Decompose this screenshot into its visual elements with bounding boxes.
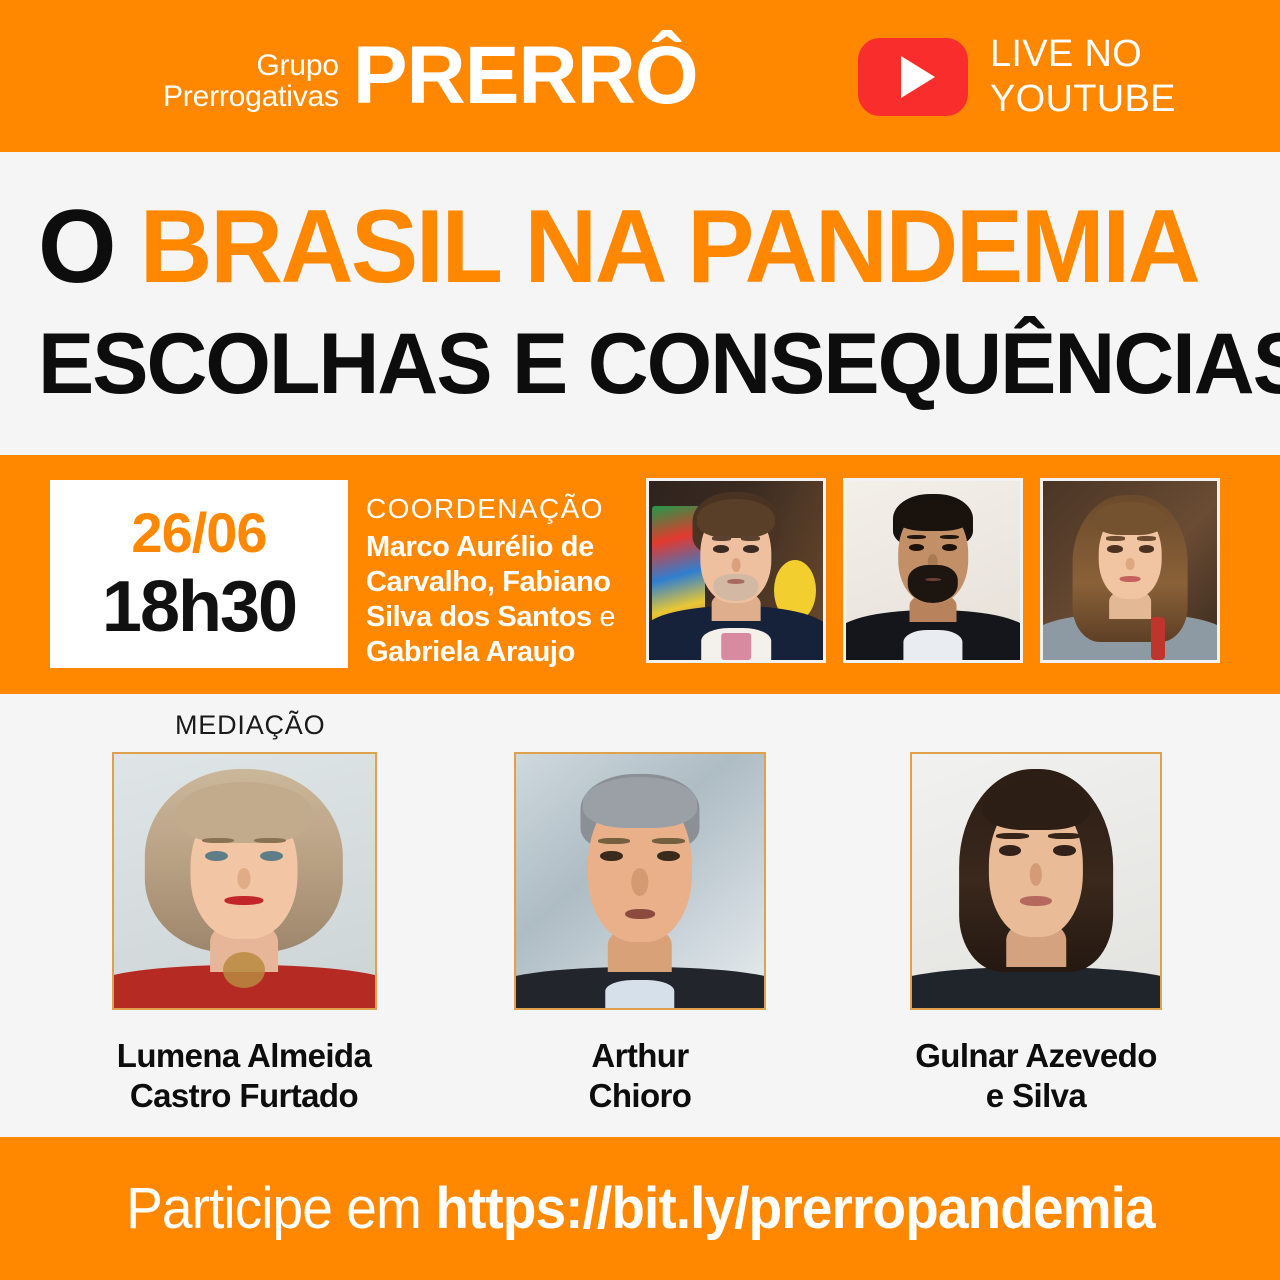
brand-subtitle-line1: Grupo (163, 50, 339, 82)
coordinator-photo-3 (1040, 478, 1220, 663)
speaker-card-1: Lumena Almeida Castro Furtado (112, 752, 377, 1117)
event-time: 18h30 (102, 571, 296, 643)
coordinator-photo-2 (843, 478, 1023, 663)
speakers-row: Lumena Almeida Castro Furtado (0, 752, 1280, 1117)
mediation-label: MEDIAÇÃO (175, 710, 325, 741)
title-line-1: O BRASIL NA PANDEMIA (38, 194, 1243, 300)
coordination-names: Marco Aurélio de Carvalho, Fabiano Silva… (366, 530, 634, 670)
coordination-name-line-1: Marco Aurélio de (366, 530, 634, 565)
coordination-conjunction: e (592, 601, 615, 633)
brand-subtitle-line2: Prerrogativas (163, 81, 339, 113)
brand-wordmark: PRERRÔ (353, 35, 698, 117)
event-date: 26/06 (131, 505, 266, 561)
footer-band: Participe em https://bit.ly/prerropandem… (0, 1137, 1280, 1280)
coordination-name-line-4: Gabriela Araujo (366, 635, 634, 670)
speaker-card-3: Gulnar Azevedo e Silva (904, 752, 1169, 1117)
coordination-text: COORDENAÇÃO Marco Aurélio de Carvalho, F… (366, 495, 634, 670)
coordination-name-line-2: Carvalho, Fabiano (366, 565, 634, 600)
coordinator-photo-1 (646, 478, 826, 663)
brand-logo: Grupo Prerrogativas PRERRÔ (163, 28, 698, 124)
speaker-card-2: Arthur Chioro (508, 752, 773, 1117)
participate-url[interactable]: https://bit.ly/prerropandemia (435, 1176, 1154, 1241)
play-triangle-icon (901, 56, 935, 98)
youtube-label-line2: YOUTUBE (990, 77, 1176, 122)
speaker-photo-arthur (514, 752, 766, 1010)
youtube-play-icon[interactable] (858, 38, 968, 116)
coordination-name-3-bold: Silva dos Santos (366, 601, 592, 633)
title-area: O BRASIL NA PANDEMIA ESCOLHAS E CONSEQUÊ… (0, 152, 1280, 455)
speaker-name-3: Gulnar Azevedo e Silva (915, 1036, 1157, 1117)
participate-lead: Participe em (126, 1176, 435, 1241)
coordination-name-line-3: Silva dos Santos e (366, 600, 634, 635)
speaker-name-1: Lumena Almeida Castro Furtado (117, 1036, 371, 1117)
speaker-name-2: Arthur Chioro (589, 1036, 692, 1117)
header-band: Grupo Prerrogativas PRERRÔ LIVE NO YOUTU… (0, 0, 1280, 152)
title-line-2: ESCOLHAS E CONSEQUÊNCIAS (38, 320, 1255, 409)
speaker-photo-lumena (112, 752, 377, 1010)
mediation-section: MEDIAÇÃO (0, 694, 1280, 1137)
brand-subtitle: Grupo Prerrogativas (163, 40, 353, 113)
youtube-live-badge[interactable]: LIVE NO YOUTUBE (858, 32, 1176, 122)
title-word-o: O (38, 189, 140, 305)
youtube-label-line1: LIVE NO (990, 32, 1176, 77)
coordination-label: COORDENAÇÃO (366, 495, 634, 523)
date-time-box: 26/06 18h30 (50, 480, 348, 668)
participate-cta[interactable]: Participe em https://bit.ly/prerropandem… (126, 1175, 1155, 1242)
title-highlight: BRASIL NA PANDEMIA (140, 189, 1199, 305)
event-poster: Grupo Prerrogativas PRERRÔ LIVE NO YOUTU… (0, 0, 1280, 1280)
speaker-photo-gulnar (910, 752, 1162, 1010)
coordinator-photos (646, 478, 1220, 663)
youtube-live-label: LIVE NO YOUTUBE (990, 32, 1176, 122)
